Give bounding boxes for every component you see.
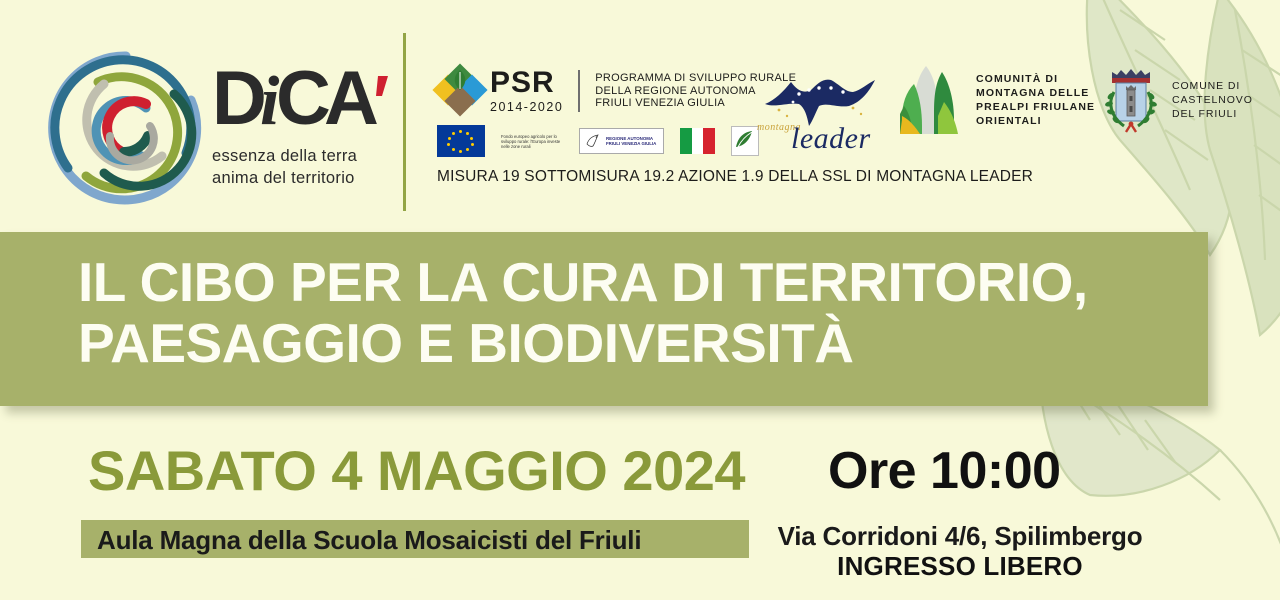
event-title: IL CIBO PER LA CURA DI TERRITORIO, PAESA… [78,252,1188,374]
event-time: Ore 10:00 [828,441,1061,501]
eu-caption: Fondo europeo agricolo per lo sviluppo r… [501,134,563,149]
event-address-block: Via Corridoni 4/6, Spilimbergo INGRESSO … [760,521,1160,581]
event-title-line2: PAESAGGIO E BIODIVERSITÀ [78,312,853,374]
dica-tagline-line1: essenza della terra [212,146,402,166]
comunita-montagna-logo: COMUNITÀ DI MONTAGNA DELLE PREALPI FRIUL… [900,62,1095,138]
svg-text:C: C [276,58,329,141]
dica-logo-icon [46,48,206,208]
comune-castelnovo-logo: COMUNE DI CASTELNOVO DEL FRIULI [1100,62,1253,138]
comune-line3: DEL FRIULI [1172,107,1253,121]
event-title-band: IL CIBO PER LA CURA DI TERRITORIO, PAESA… [0,232,1208,406]
event-date: SABATO 4 MAGGIO 2024 [88,440,745,502]
event-poster: D i C A essenza della terra anima del te… [0,0,1280,600]
svg-text:D: D [212,58,265,141]
italy-flag-icon [680,128,715,154]
montagna-leader-word-main: leader [791,122,871,156]
event-date-row: SABATO 4 MAGGIO 2024 Ore 10:00 [0,440,1280,502]
fvg-caption-line2: FRIULI VENEZIA GIULIA [606,141,656,146]
event-venue-band: Aula Magna della Scuola Mosaicisti del F… [81,520,749,558]
measure-line: MISURA 19 SOTTOMISURA 19.2 AZIONE 1.9 DE… [437,168,1033,186]
mountain-peaks-icon [900,62,964,138]
coat-of-arms-icon [1100,62,1162,138]
svg-text:A: A [324,58,377,141]
event-title-line1: IL CIBO PER LA CURA DI TERRITORIO, [78,251,1088,313]
dica-name: D i C A [212,58,402,144]
institutional-logos: Fondo europeo agricolo per lo sviluppo r… [437,125,759,157]
psr-title: PSR [490,68,563,98]
dica-wordmark: D i C A essenza della terra anima del te… [212,58,402,188]
psr-logo: PSR 2014-2020 PROGRAMMA DI SVILUPPO RURA… [437,68,796,114]
event-entry-note: INGRESSO LIBERO [760,551,1160,581]
psr-diamond-icon [437,68,483,114]
poster-header: D i C A essenza della terra anima del te… [0,0,1280,232]
comunita-line3: PREALPI FRIULANE [976,100,1095,114]
fvg-logo: REGIONE AUTONOMA FRIULI VENEZIA GIULIA [579,128,664,154]
psr-separator [578,70,580,112]
dica-tagline-line2: anima del territorio [212,168,402,188]
comune-line2: CASTELNOVO [1172,93,1253,107]
fvg-eagle-icon [583,131,603,151]
montagna-leader-logo: montagna leader [757,62,887,160]
comunita-line4: ORIENTALI [976,114,1095,128]
eu-flag-icon [437,125,485,157]
event-venue: Aula Magna della Scuola Mosaicisti del F… [97,526,641,554]
psr-years: 2014-2020 [490,101,563,114]
ministry-logo-icon [731,126,759,156]
header-divider [403,33,406,211]
event-address: Via Corridoni 4/6, Spilimbergo [760,521,1160,551]
comune-line1: COMUNE DI [1172,79,1253,93]
comunita-line1: COMUNITÀ DI [976,72,1095,86]
comunita-line2: MONTAGNA DELLE [976,86,1095,100]
